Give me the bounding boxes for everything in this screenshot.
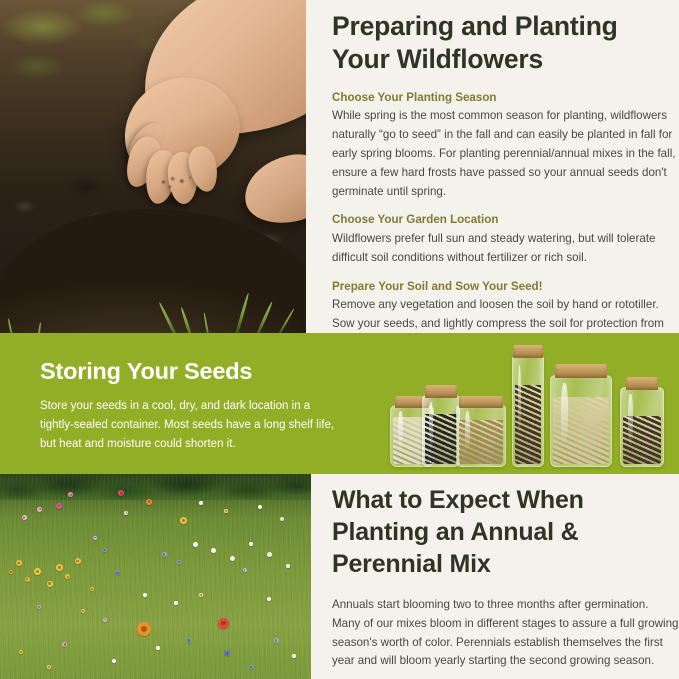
glass-highlight bbox=[398, 411, 403, 451]
grass-blade bbox=[158, 302, 181, 333]
grass-blade bbox=[7, 318, 14, 333]
jar-pumpkin-seeds bbox=[550, 364, 612, 467]
jar-black-seeds bbox=[422, 385, 460, 467]
planting-text-column: Preparing and Planting Your Wildflowers … bbox=[332, 0, 679, 333]
cork-lid-icon bbox=[425, 385, 457, 398]
cork-lid-icon bbox=[459, 396, 503, 408]
expect-body: Annuals start blooming two to three mont… bbox=[332, 596, 679, 671]
storing-body: Store your seeds in a cool, dry, and dar… bbox=[40, 397, 340, 454]
storing-text-column: Storing Your Seeds Store your seeds in a… bbox=[40, 357, 340, 454]
cork-lid-icon bbox=[513, 345, 543, 358]
cork-lid-icon bbox=[626, 377, 658, 390]
grass-blade bbox=[180, 307, 195, 333]
infographic-page: Preparing and Planting Your Wildflowers … bbox=[0, 0, 679, 679]
glass-jar bbox=[550, 375, 612, 467]
seed-jars-photo bbox=[390, 341, 670, 467]
grass-blades bbox=[0, 0, 306, 333]
glass-highlight bbox=[429, 402, 433, 448]
jar-brown-grain bbox=[456, 396, 506, 467]
subhead-prepare-soil: Prepare Your Soil and Sow Your Seed! bbox=[332, 279, 679, 295]
expect-heading: What to Expect When Planting an Annual &… bbox=[332, 484, 679, 580]
glass-jar bbox=[620, 387, 664, 467]
planting-heading: Preparing and Planting Your Wildflowers bbox=[332, 10, 679, 77]
grass-blade bbox=[233, 293, 250, 333]
glass-jar bbox=[456, 405, 506, 467]
body-garden-location: Wildflowers prefer full sun and steady w… bbox=[332, 230, 679, 268]
storing-heading: Storing Your Seeds bbox=[40, 357, 340, 385]
cork-lid-icon bbox=[555, 364, 607, 378]
grass-blade bbox=[36, 322, 41, 333]
glass-jar bbox=[512, 355, 544, 467]
subhead-garden-location: Choose Your Garden Location bbox=[332, 212, 679, 228]
glass-highlight bbox=[561, 383, 568, 442]
storing-seeds-band: Storing Your Seeds Store your seeds in a… bbox=[0, 333, 679, 474]
jar-tall-dark-seeds bbox=[512, 345, 544, 467]
glass-jar bbox=[422, 395, 460, 467]
expect-text-column: What to Expect When Planting an Annual &… bbox=[332, 474, 679, 679]
grass-blade bbox=[203, 312, 211, 333]
glass-highlight bbox=[628, 394, 633, 445]
body-planting-season: While spring is the most common season f… bbox=[332, 107, 679, 201]
hand-sowing-seeds-photo bbox=[0, 0, 306, 333]
subhead-planting-season: Choose Your Planting Season bbox=[332, 90, 679, 106]
grass-blade bbox=[275, 308, 295, 333]
grass-blade bbox=[254, 301, 274, 333]
meadow-grass-texture bbox=[0, 474, 311, 679]
wildflower-meadow-photo bbox=[0, 474, 311, 679]
jar-speckled-beans bbox=[620, 377, 664, 467]
